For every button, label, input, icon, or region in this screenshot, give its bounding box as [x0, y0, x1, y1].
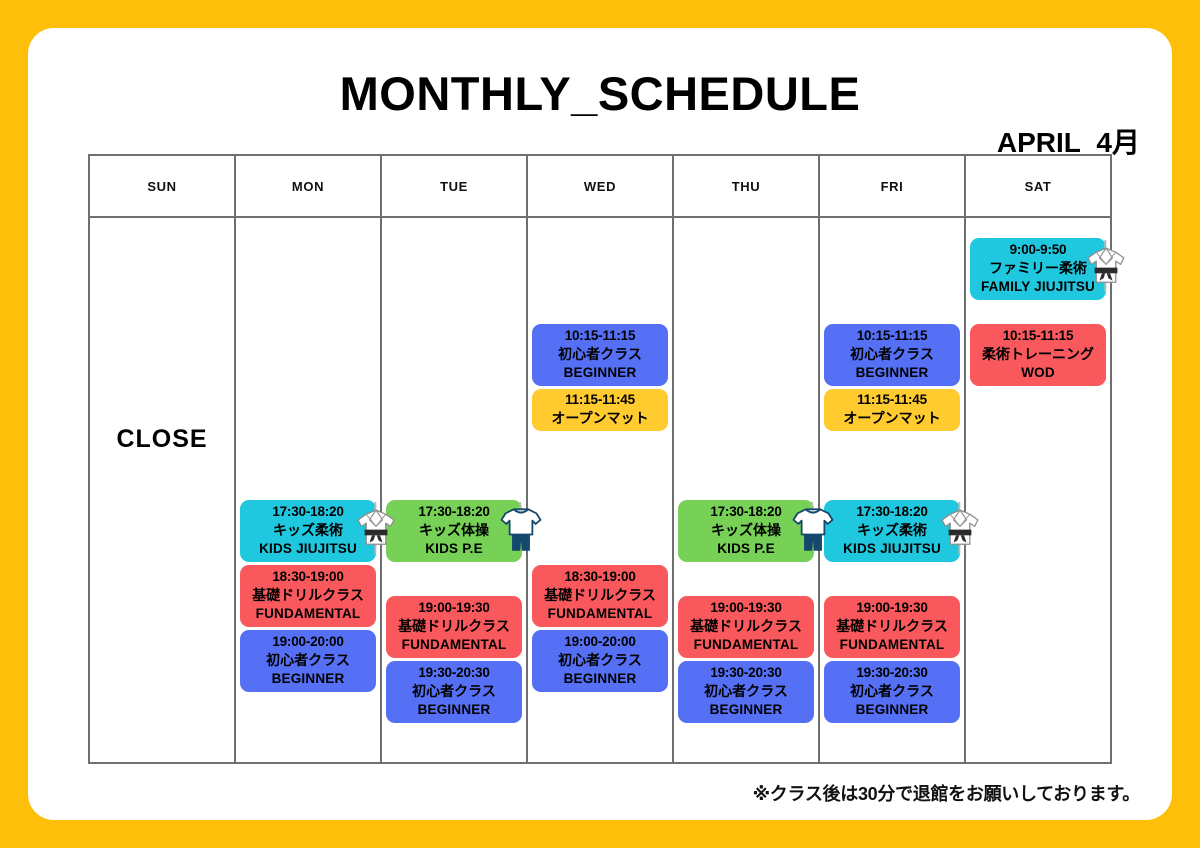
class-time: 11:15-11:45 [534, 392, 666, 409]
class-time: 18:30-19:00 [534, 569, 666, 586]
day-header-wed: WED [528, 156, 672, 218]
day-column-mon: MON17:30-18:20キッズ柔術KIDS JIUJITSU 18:30-1… [236, 156, 382, 764]
class-block[interactable]: 11:15-11:45オープンマット [532, 389, 668, 431]
class-block[interactable]: 18:30-19:00基礎ドリルクラスFUNDAMENTAL [240, 565, 376, 627]
class-block[interactable]: 10:15-11:15柔術トレーニングWOD [970, 324, 1106, 386]
class-block[interactable]: 17:30-18:20キッズ柔術KIDS JIUJITSU [240, 500, 376, 562]
class-name-en: FUNDAMENTAL [242, 606, 374, 623]
day-body-wed: 10:15-11:15初心者クラスBEGINNER11:15-11:45オープン… [528, 218, 672, 762]
day-body-tue: 17:30-18:20キッズ体操KIDS P.E 19:00-19:30基礎ドリ… [382, 218, 526, 762]
class-name-en: KIDS JIUJITSU [826, 541, 958, 558]
class-block[interactable]: 11:15-11:45オープンマット [824, 389, 960, 431]
class-block[interactable]: 19:00-20:00初心者クラスBEGINNER [240, 630, 376, 692]
class-name-jp: ファミリー柔術 [972, 260, 1104, 278]
class-name-jp: 基礎ドリルクラス [242, 587, 374, 605]
class-block[interactable]: 10:15-11:15初心者クラスBEGINNER [824, 324, 960, 386]
day-header-thu: THU [674, 156, 818, 218]
class-time: 17:30-18:20 [242, 504, 374, 521]
class-name-jp: 柔術トレーニング [972, 346, 1104, 364]
day-body-sat: 9:00-9:50ファミリー柔術FAMILY JIUJITSU 10:15-11… [966, 218, 1110, 762]
day-header-mon: MON [236, 156, 380, 218]
class-name-jp: 基礎ドリルクラス [826, 618, 958, 636]
class-name-jp: 初心者クラス [680, 683, 812, 701]
schedule-card: MONTHLY_SCHEDULE APRIL_4月 SUNCLOSEMON17:… [28, 28, 1172, 820]
class-time: 18:30-19:00 [242, 569, 374, 586]
class-name-jp: 初心者クラス [826, 346, 958, 364]
day-header-sat: SAT [966, 156, 1110, 218]
day-header-tue: TUE [382, 156, 526, 218]
class-name-jp: 初心者クラス [826, 683, 958, 701]
class-time: 19:30-20:30 [388, 665, 520, 682]
class-name-en: KIDS P.E [680, 541, 812, 558]
class-time: 10:15-11:15 [534, 328, 666, 345]
class-block[interactable]: 19:00-20:00初心者クラスBEGINNER [532, 630, 668, 692]
class-name-en: FUNDAMENTAL [388, 637, 520, 654]
day-column-fri: FRI10:15-11:15初心者クラスBEGINNER11:15-11:45オ… [820, 156, 966, 764]
class-time: 19:30-20:30 [680, 665, 812, 682]
class-block[interactable]: 18:30-19:00基礎ドリルクラスFUNDAMENTAL [532, 565, 668, 627]
class-time: 17:30-18:20 [826, 504, 958, 521]
class-time: 10:15-11:15 [826, 328, 958, 345]
class-time: 19:00-19:30 [826, 600, 958, 617]
class-name-en: KIDS JIUJITSU [242, 541, 374, 558]
class-time: 19:30-20:30 [826, 665, 958, 682]
day-column-sun: SUNCLOSE [90, 156, 236, 764]
class-name-en: BEGINNER [680, 702, 812, 719]
day-body-sun: CLOSE [90, 218, 234, 762]
class-time: 19:00-19:30 [388, 600, 520, 617]
day-column-thu: THU17:30-18:20キッズ体操KIDS P.E 19:00-19:30基… [674, 156, 820, 764]
class-name-en: BEGINNER [534, 671, 666, 688]
class-name-en: BEGINNER [242, 671, 374, 688]
class-name-jp: キッズ柔術 [242, 522, 374, 540]
class-block[interactable]: 19:30-20:30初心者クラスBEGINNER [678, 661, 814, 723]
class-time: 17:30-18:20 [680, 504, 812, 521]
class-name-jp: 基礎ドリルクラス [388, 618, 520, 636]
class-name-en: FUNDAMENTAL [534, 606, 666, 623]
day-body-fri: 10:15-11:15初心者クラスBEGINNER11:15-11:45オープン… [820, 218, 964, 762]
class-name-jp: キッズ柔術 [826, 522, 958, 540]
class-time: 19:00-20:00 [534, 634, 666, 651]
class-time: 11:15-11:45 [826, 392, 958, 409]
day-column-wed: WED10:15-11:15初心者クラスBEGINNER11:15-11:45オ… [528, 156, 674, 764]
page-title: MONTHLY_SCHEDULE [28, 66, 1172, 121]
class-name-en: BEGINNER [826, 365, 958, 382]
day-column-tue: TUE17:30-18:20キッズ体操KIDS P.E 19:00-19:30基… [382, 156, 528, 764]
class-time: 17:30-18:20 [388, 504, 520, 521]
class-block[interactable]: 19:30-20:30初心者クラスBEGINNER [824, 661, 960, 723]
class-name-jp: 基礎ドリルクラス [534, 587, 666, 605]
class-block[interactable]: 17:30-18:20キッズ体操KIDS P.E [386, 500, 522, 562]
day-header-fri: FRI [820, 156, 964, 218]
day-body-thu: 17:30-18:20キッズ体操KIDS P.E 19:00-19:30基礎ドリ… [674, 218, 818, 762]
class-time: 10:15-11:15 [972, 328, 1104, 345]
day-header-sun: SUN [90, 156, 234, 218]
footnote: ※クラス後は30分で退館をお願いしております。 [753, 780, 1140, 806]
class-name-en: WOD [972, 365, 1104, 382]
class-time: 19:00-20:00 [242, 634, 374, 651]
class-name-jp: オープンマット [534, 410, 666, 428]
class-name-en: FUNDAMENTAL [680, 637, 812, 654]
class-block[interactable]: 19:30-20:30初心者クラスBEGINNER [386, 661, 522, 723]
class-time: 19:00-19:30 [680, 600, 812, 617]
class-name-jp: 基礎ドリルクラス [680, 618, 812, 636]
class-block[interactable]: 19:00-19:30基礎ドリルクラスFUNDAMENTAL [824, 596, 960, 658]
class-name-jp: 初心者クラス [388, 683, 520, 701]
day-column-sat: SAT9:00-9:50ファミリー柔術FAMILY JIUJITSU 10:15… [966, 156, 1112, 764]
class-name-jp: 初心者クラス [242, 652, 374, 670]
class-name-jp: キッズ体操 [388, 522, 520, 540]
class-block[interactable]: 9:00-9:50ファミリー柔術FAMILY JIUJITSU [970, 238, 1106, 300]
class-name-jp: キッズ体操 [680, 522, 812, 540]
class-block[interactable]: 17:30-18:20キッズ柔術KIDS JIUJITSU [824, 500, 960, 562]
class-block[interactable]: 17:30-18:20キッズ体操KIDS P.E [678, 500, 814, 562]
class-name-jp: オープンマット [826, 410, 958, 428]
class-name-en: BEGINNER [826, 702, 958, 719]
class-name-en: BEGINNER [534, 365, 666, 382]
day-body-mon: 17:30-18:20キッズ柔術KIDS JIUJITSU 18:30-19:0… [236, 218, 380, 762]
closed-label: CLOSE [90, 425, 234, 454]
class-block[interactable]: 19:00-19:30基礎ドリルクラスFUNDAMENTAL [386, 596, 522, 658]
class-name-jp: 初心者クラス [534, 346, 666, 364]
class-name-jp: 初心者クラス [534, 652, 666, 670]
schedule-grid: SUNCLOSEMON17:30-18:20キッズ柔術KIDS JIUJITSU… [88, 154, 1112, 764]
class-name-en: KIDS P.E [388, 541, 520, 558]
class-time: 9:00-9:50 [972, 242, 1104, 259]
class-name-en: FUNDAMENTAL [826, 637, 958, 654]
class-block[interactable]: 19:00-19:30基礎ドリルクラスFUNDAMENTAL [678, 596, 814, 658]
class-block[interactable]: 10:15-11:15初心者クラスBEGINNER [532, 324, 668, 386]
class-name-en: BEGINNER [388, 702, 520, 719]
class-name-en: FAMILY JIUJITSU [972, 279, 1104, 296]
